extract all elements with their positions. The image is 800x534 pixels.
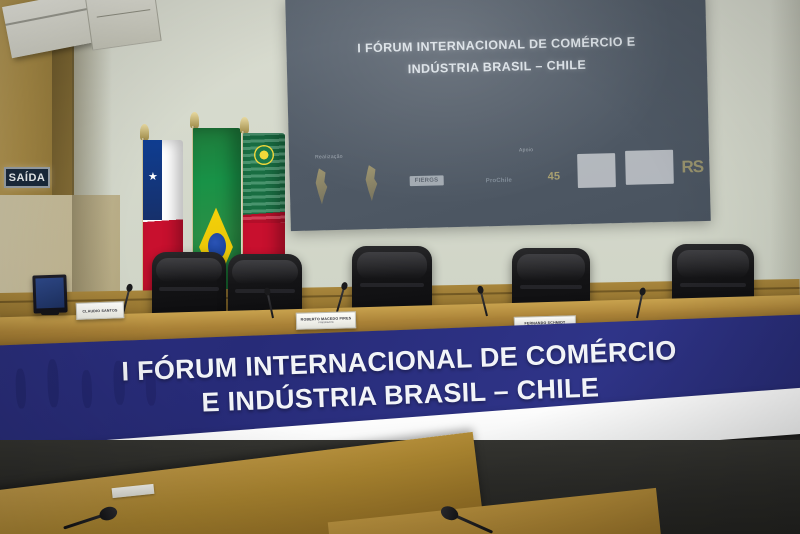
chile-flag-star: ★	[148, 172, 158, 183]
slide-gov-chile-logo	[625, 150, 674, 185]
right-wall-shadow	[770, 0, 800, 300]
placard-title-2: PRESIDENTE	[318, 321, 333, 324]
placard-name-1: CLAUDIO SANTOS	[82, 308, 117, 313]
slide-map-logo-2	[361, 165, 380, 201]
slide-fiergs-logo: FIERGS	[410, 175, 444, 186]
exit-sign: SAÍDA	[4, 167, 50, 188]
table-monitor-screen	[35, 278, 64, 309]
projection-screen: I FÓRUM INTERNACIONAL DE COMÉRCIO E INDÚ…	[285, 0, 711, 231]
slide-gov-card-logo	[577, 153, 616, 188]
slide-prochile-logo: ProChile	[486, 178, 512, 185]
slide-anniversary-logo: 45	[548, 170, 561, 182]
name-placard-1: CLAUDIO SANTOS	[76, 301, 125, 320]
slide-map-logo-1	[311, 168, 330, 204]
exit-sign-label: SAÍDA	[9, 172, 46, 184]
table-monitor-stand	[41, 310, 59, 315]
slide-realizacao-label: Realização	[315, 154, 343, 161]
slide-gov-rs-logo: RS	[681, 157, 703, 178]
rs-flag-rosette	[254, 145, 274, 165]
slide-apoio-label: Apoio	[519, 147, 533, 153]
name-placard-2: ROBERTO MACEDO PIRES PRESIDENTE	[296, 311, 356, 330]
table-monitor[interactable]	[32, 274, 67, 313]
slide-logo-row: Realização Apoio FIERGS ProChile 45 RS	[289, 143, 710, 213]
conference-hall-photo: SAÍDA I FÓRUM INTERNACIONAL DE COMÉRCIO …	[0, 0, 800, 534]
